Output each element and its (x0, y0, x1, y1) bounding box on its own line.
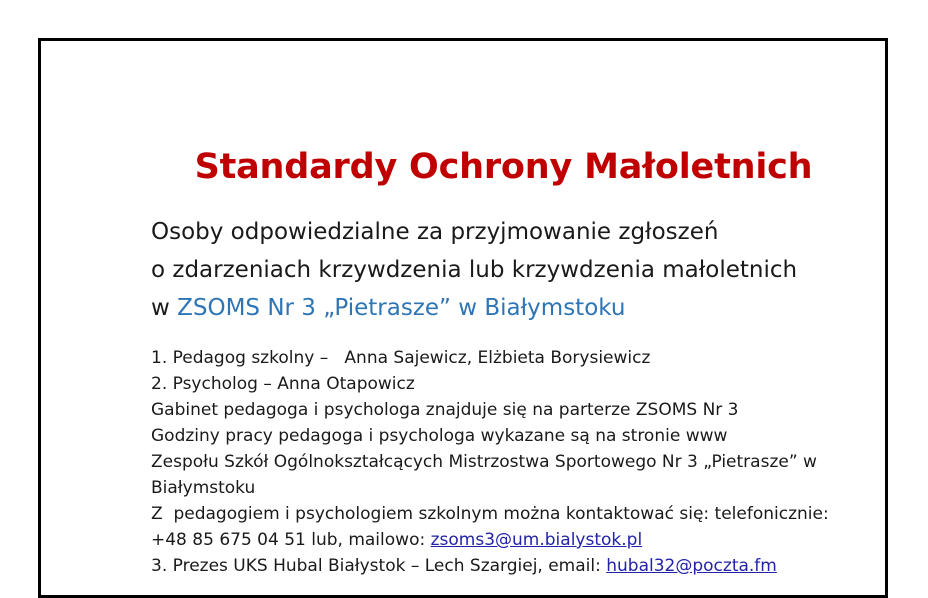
subtitle-line-2: o zdarzeniach krzywdzenia lub krzywdzeni… (151, 251, 856, 289)
body-line-psycholog: 2. Psycholog – Anna Otapowicz (151, 371, 863, 397)
page-title: Standardy Ochrony Małoletnich (151, 145, 856, 189)
page-border-frame: Standardy Ochrony Małoletnich Osoby odpo… (38, 38, 888, 598)
email-link-hubal32[interactable]: hubal32@poczta.fm (606, 556, 777, 576)
body-line-kontakt: Z pedagogiem i psychologiem szkolnym moż… (151, 501, 863, 527)
body-block: 1. Pedagog szkolny – Anna Sajewicz, Elżb… (151, 345, 863, 579)
body-line-pedagog: 1. Pedagog szkolny – Anna Sajewicz, Elżb… (151, 345, 863, 371)
body-line-telefon-email: +48 85 675 04 51 lub, mailowo: zsoms3@um… (151, 527, 863, 553)
prezes-text: 3. Prezes UKS Hubal Białystok – Lech Sza… (151, 556, 606, 576)
email-link-zsoms3[interactable]: zsoms3@um.bialystok.pl (431, 530, 643, 550)
subtitle-school-name: ZSOMS Nr 3 „Pietrasze” w Białymstoku (177, 295, 625, 321)
body-line-gabinet: Gabinet pedagoga i psychologa znajduje s… (151, 397, 863, 423)
phone-text: +48 85 675 04 51 lub, mailowo: (151, 530, 431, 550)
subtitle-line-3: w ZSOMS Nr 3 „Pietrasze” w Białymstoku (151, 289, 856, 327)
subtitle-block: Osoby odpowiedzialne za przyjmowanie zgł… (151, 213, 856, 327)
body-line-godziny: Godziny pracy pedagoga i psychologa wyka… (151, 423, 863, 449)
body-line-prezes-uks: 3. Prezes UKS Hubal Białystok – Lech Sza… (151, 553, 863, 579)
document-content: Standardy Ochrony Małoletnich Osoby odpo… (151, 145, 856, 579)
body-line-zespol: Zespołu Szkół Ogólnokształcących Mistrzo… (151, 449, 863, 501)
subtitle-line-1: Osoby odpowiedzialne za przyjmowanie zgł… (151, 213, 856, 251)
subtitle-line-3-prefix: w (151, 295, 177, 321)
document-page: Standardy Ochrony Małoletnich Osoby odpo… (0, 0, 928, 576)
